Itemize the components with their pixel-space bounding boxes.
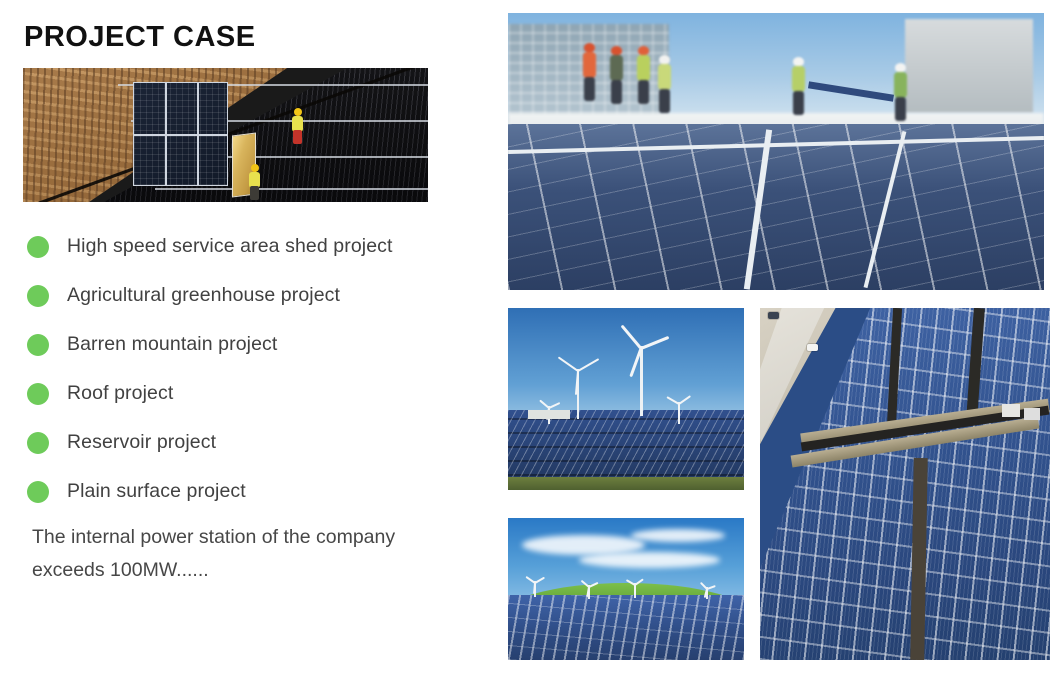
roof-equipment: [1024, 408, 1040, 420]
green-bullet-icon: [27, 481, 49, 503]
car: [768, 312, 779, 319]
list-item-label: High speed service area shed project: [67, 235, 393, 258]
wind-solar-farm-photo: [508, 308, 744, 490]
page-title: PROJECT CASE: [24, 22, 256, 54]
list-item[interactable]: Barren mountain project: [27, 320, 477, 369]
list-item[interactable]: Agricultural greenhouse project: [27, 271, 477, 320]
summary-paragraph: The internal power station of the compan…: [32, 521, 432, 587]
list-item-label: Barren mountain project: [67, 333, 277, 356]
project-case-slide: PROJECT CASE: [0, 0, 1060, 689]
list-item-label: Plain surface project: [67, 480, 246, 503]
sky-background: [508, 308, 744, 417]
project-bullet-list: High speed service area shed project Agr…: [27, 222, 477, 516]
list-item[interactable]: Plain surface project: [27, 467, 477, 516]
concrete-building: [905, 19, 1034, 113]
list-item[interactable]: Reservoir project: [27, 418, 477, 467]
aerial-rooftop-solar-photo: [760, 308, 1050, 660]
solar-panel-rows: [508, 595, 744, 660]
hillside-solar-farm-photo: [508, 518, 744, 660]
site-building: [528, 410, 570, 419]
grass-strip: [508, 477, 744, 490]
rooftop-array-hero-photo: [508, 13, 1044, 290]
left-content-column: PROJECT CASE: [0, 0, 500, 689]
list-item-label: Agricultural greenhouse project: [67, 284, 340, 307]
cloud: [579, 552, 721, 568]
list-item[interactable]: High speed service area shed project: [27, 222, 477, 271]
list-item-label: Reservoir project: [67, 431, 216, 454]
green-bullet-icon: [27, 334, 49, 356]
list-item[interactable]: Roof project: [27, 369, 477, 418]
installed-panel-array: [133, 82, 228, 186]
roof-equipment: [1002, 404, 1020, 417]
roof-installation-photo: [23, 68, 428, 202]
green-bullet-icon: [27, 383, 49, 405]
green-bullet-icon: [27, 432, 49, 454]
list-item-label: Roof project: [67, 382, 173, 405]
green-bullet-icon: [27, 236, 49, 258]
green-bullet-icon: [27, 285, 49, 307]
car: [807, 344, 818, 351]
mounting-rail: [155, 188, 428, 190]
